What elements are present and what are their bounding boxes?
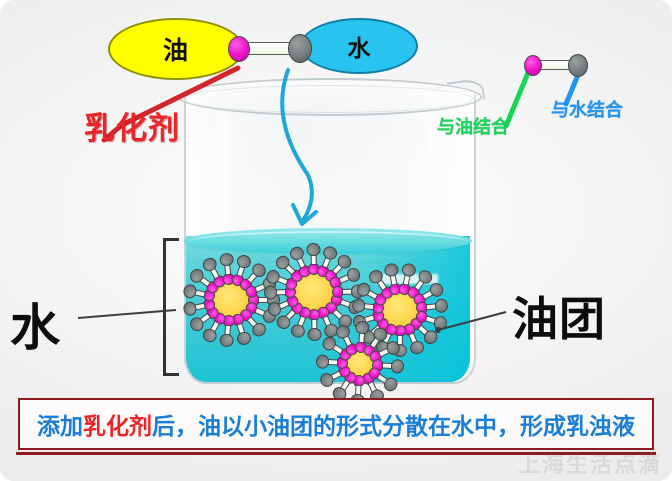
water-extent-bracket bbox=[163, 238, 179, 376]
surfactant-head-icon bbox=[228, 36, 250, 62]
small-surfactant-water-end-icon bbox=[568, 54, 588, 77]
caption-box: 添加乳化剂后，油以小油团的形式分散在水中，形成乳浊液 bbox=[18, 398, 654, 450]
surfactant-water-end bbox=[334, 323, 352, 341]
bind-oil-label: 与油结合 bbox=[437, 113, 509, 139]
caption-text: 添加乳化剂后，油以小油团的形式分散在水中，形成乳浊液 bbox=[37, 407, 635, 441]
water-ellipse: 水 bbox=[300, 18, 418, 74]
surfactant-water-end bbox=[316, 354, 330, 369]
watermark: 上海生活点滴 bbox=[518, 447, 662, 479]
caption-highlight: 乳化剂 bbox=[83, 414, 152, 440]
caption-part2: 后，油以小油团的形式分散在水中，形成乳浊液 bbox=[152, 414, 635, 440]
oil-globule-label: 油团 bbox=[512, 283, 606, 349]
beaker bbox=[178, 78, 478, 378]
surfactant-water-end bbox=[390, 359, 404, 374]
figure-canvas: 油 水 乳化剂 与油结合 与水结合 水 油团 添加乳化剂后，油以小油团的形式分散… bbox=[0, 0, 672, 481]
small-surfactant-head-icon bbox=[524, 55, 542, 76]
water-label: 水 bbox=[10, 288, 61, 360]
micelle-layer bbox=[178, 78, 478, 378]
micelle bbox=[178, 78, 478, 378]
emulsifier-label: 乳化剂 bbox=[84, 103, 180, 148]
bind-water-label: 与水结合 bbox=[551, 96, 623, 122]
oil-ellipse-label: 油 bbox=[163, 31, 189, 67]
caption-part1: 添加 bbox=[37, 414, 83, 440]
oil-ellipse: 油 bbox=[108, 18, 244, 80]
surfactant-water-end-icon bbox=[288, 34, 312, 63]
surfactant-water-end bbox=[355, 321, 370, 335]
water-ellipse-label: 水 bbox=[348, 29, 371, 63]
beaker-rim-inner bbox=[185, 85, 473, 113]
